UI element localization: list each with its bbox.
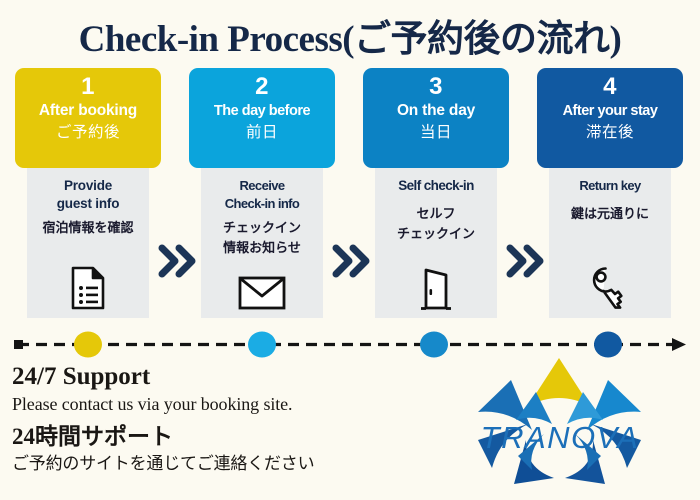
double-chevron-right-icon-1	[158, 244, 198, 278]
step-number-4: 4	[537, 73, 683, 100]
step-detail-jp-1-line1: 宿泊情報を確認	[27, 218, 149, 238]
step-label-en-4: After your stay	[537, 100, 683, 122]
double-chevron-right-icon-2	[332, 244, 372, 278]
step-detail-en-1-line2: guest info	[27, 195, 149, 213]
double-chevron-right-icon-3	[506, 244, 546, 278]
step-detail-jp-3-line1: セルフ	[375, 204, 497, 224]
step-detail-jp-2-line2: 情報お知らせ	[201, 238, 323, 258]
key-icon	[549, 264, 671, 310]
step-label-jp-4: 滞在後	[537, 122, 683, 144]
step-number-2: 2	[189, 73, 335, 100]
step-label-en-2: The day before	[189, 100, 335, 122]
step-header-2: 2 The day before 前日	[189, 68, 335, 168]
step-number-1: 1	[15, 73, 161, 100]
tranova-logo[interactable]: TRANOVA	[452, 352, 667, 492]
step-body-4: Return key 鍵は元通りに	[549, 168, 671, 318]
step-detail-jp-4-line1: 鍵は元通りに	[549, 204, 671, 224]
step-label-jp-2: 前日	[189, 122, 335, 144]
step-header-4: 4 After your stay 滞在後	[537, 68, 683, 168]
step-detail-jp-2-line1: チェックイン	[201, 218, 323, 238]
step-header-1: 1 After booking ご予約後	[15, 68, 161, 168]
door-icon	[375, 268, 497, 310]
step-label-jp-3: 当日	[363, 122, 509, 144]
step-label-en-1: After booking	[15, 100, 161, 122]
step-number-3: 3	[363, 73, 509, 100]
step-card-2[interactable]: 2 The day before 前日 Receive Check-in inf…	[182, 66, 342, 318]
step-body-3: Self check-in セルフ チェックイン	[375, 168, 497, 318]
support-text-en: Please contact us via your booking site.	[12, 392, 314, 416]
logo-wordmark: TRANOVA	[481, 420, 640, 455]
step-label-jp-1: ご予約後	[15, 122, 161, 144]
support-heading-jp: 24時間サポート	[12, 422, 314, 452]
document-list-icon	[27, 260, 149, 310]
step-detail-jp-3-line2: チェックイン	[375, 224, 497, 244]
step-card-3[interactable]: 3 On the day 当日 Self check-in セルフ チェックイン	[356, 66, 516, 318]
step-header-3: 3 On the day 当日	[363, 68, 509, 168]
step-body-1: Provide guest info 宿泊情報を確認	[27, 168, 149, 318]
timeline-dot-1	[74, 332, 102, 358]
step-card-4[interactable]: 4 After your stay 滞在後 Return key 鍵は元通りに	[530, 66, 690, 318]
timeline-arrow-head	[672, 338, 686, 351]
process-steps: 1 After booking ご予約後 Provide guest info …	[0, 66, 700, 318]
support-text-jp: ご予約のサイトを通じてご連絡ください	[12, 452, 314, 475]
support-section: 24/7 Support Please contact us via your …	[12, 362, 314, 475]
timeline-dot-3	[420, 332, 448, 358]
step-detail-en-3-line1: Self check-in	[375, 177, 497, 195]
step-detail-en-1-line1: Provide	[27, 177, 149, 195]
envelope-icon	[201, 274, 323, 310]
step-detail-en-4-line1: Return key	[549, 177, 671, 195]
step-detail-en-2-line1: Receive	[201, 177, 323, 195]
step-card-1[interactable]: 1 After booking ご予約後 Provide guest info …	[8, 66, 168, 318]
support-heading-en: 24/7 Support	[12, 362, 314, 392]
timeline-dot-2	[248, 332, 276, 358]
step-label-en-3: On the day	[363, 100, 509, 122]
step-detail-en-2-line2: Check-in info	[201, 195, 323, 213]
step-body-2: Receive Check-in info チェックイン 情報お知らせ	[201, 168, 323, 318]
page-title: Check-in Process(ご予約後の流れ)	[0, 8, 700, 62]
